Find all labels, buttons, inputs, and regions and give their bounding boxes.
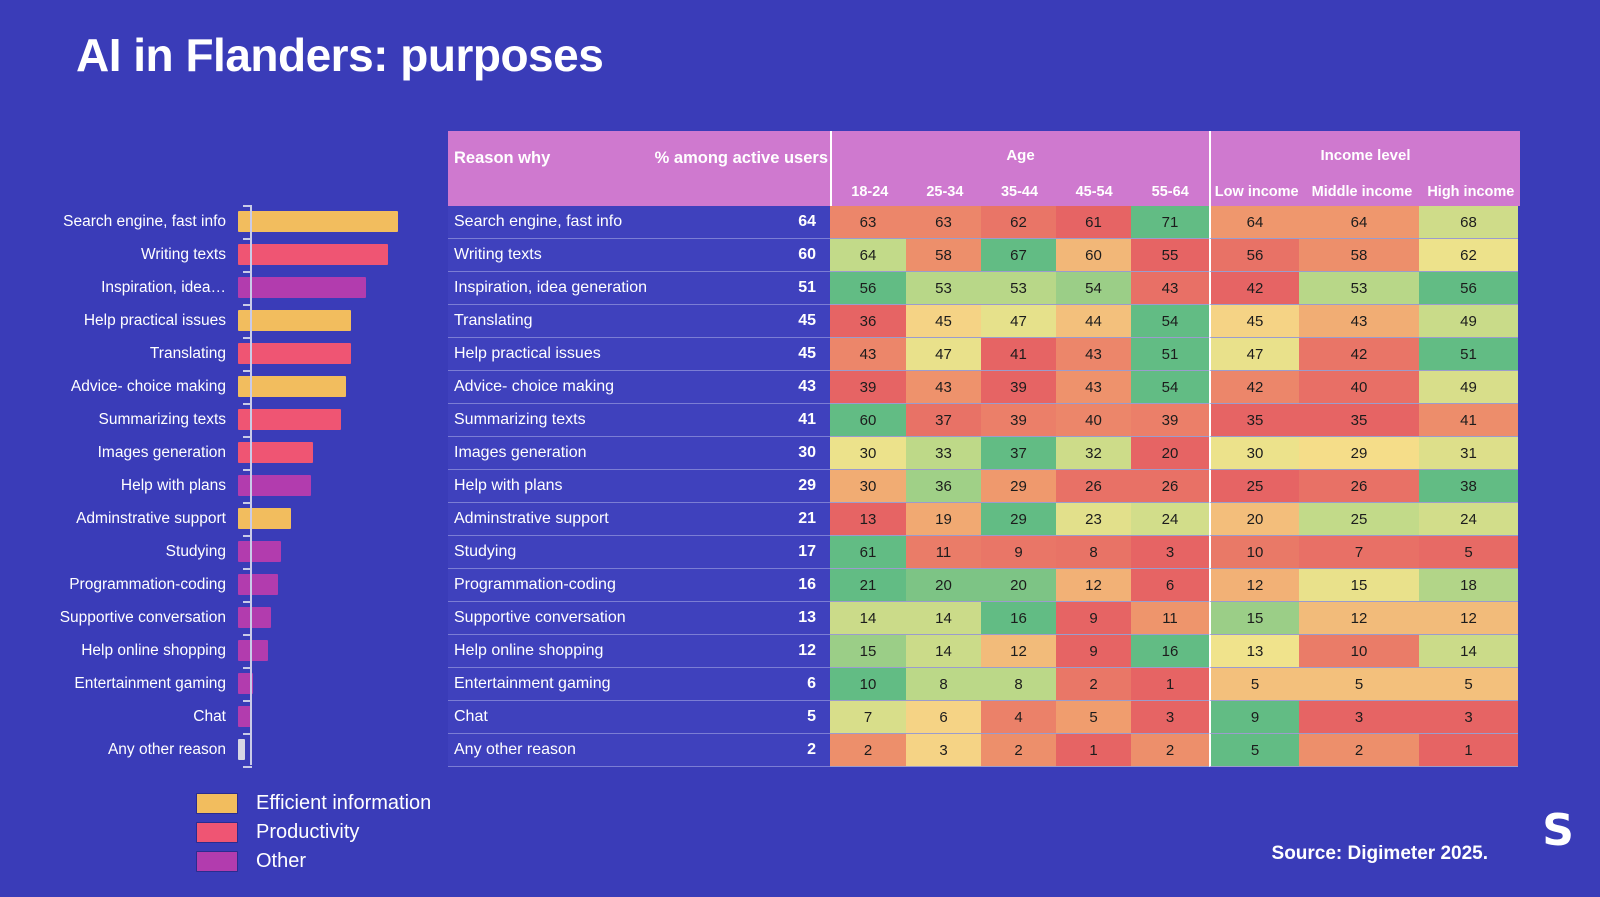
row-heatmap: 3036292626252638: [830, 470, 1518, 503]
row-reason-cell: Summarizing texts41: [448, 404, 830, 437]
heat-cell-age: 2: [1056, 668, 1131, 701]
heat-cell-age: 62: [981, 206, 1056, 239]
row-percent-value: 30: [798, 444, 816, 462]
heat-cell-age: 20: [906, 569, 981, 602]
axis-tick: [243, 667, 252, 669]
axis-tick: [243, 502, 252, 504]
bar-row: Adminstrative support: [0, 502, 430, 535]
bar: [238, 277, 366, 298]
row-percent-value: 5: [807, 708, 816, 726]
table-row: Writing texts606458676055565862: [448, 239, 1521, 272]
heat-cell-age: 20: [1131, 437, 1209, 470]
bar: [238, 508, 291, 529]
row-reason-label: Entertainment gaming: [448, 675, 611, 693]
bar-row: Images generation: [0, 436, 430, 469]
heat-cell-income: 12: [1209, 569, 1299, 602]
bar: [238, 343, 351, 364]
heat-cell-income: 51: [1419, 338, 1518, 371]
row-heatmap: 6363626171646468: [830, 206, 1518, 239]
heat-cell-income: 10: [1299, 635, 1419, 668]
legend-swatch: [196, 822, 238, 843]
bar-label: Any other reason: [0, 741, 238, 759]
header-group-title: Age: [832, 131, 1209, 161]
header-column-low-income: Low income: [1211, 184, 1302, 206]
bar: [238, 607, 271, 628]
row-reason-label: Help practical issues: [448, 345, 601, 363]
bar-track: [238, 304, 430, 337]
heat-cell-age: 9: [981, 536, 1056, 569]
bar-row: Help with plans: [0, 469, 430, 502]
heat-cell-age: 67: [981, 239, 1056, 272]
axis-tick: [243, 337, 252, 339]
header-pct-label: % among active users: [655, 149, 828, 168]
heat-cell-age: 11: [906, 536, 981, 569]
heat-cell-age: 8: [906, 668, 981, 701]
heat-cell-age: 63: [830, 206, 906, 239]
row-heatmap: 5653535443425356: [830, 272, 1518, 305]
bar-label: Chat: [0, 708, 238, 726]
table-row: Studying1761119831075: [448, 536, 1521, 569]
header-column-high-income: High income: [1422, 184, 1520, 206]
legend-label: Other: [256, 850, 306, 873]
bar: [238, 244, 388, 265]
heat-cell-income: 5: [1419, 536, 1518, 569]
heat-cell-age: 43: [1131, 272, 1209, 305]
heat-cell-age: 51: [1131, 338, 1209, 371]
bar-label: Help online shopping: [0, 642, 238, 660]
heat-cell-age: 16: [981, 602, 1056, 635]
brand-logo: S: [1542, 812, 1574, 850]
heat-cell-age: 30: [830, 470, 906, 503]
heat-cell-age: 15: [830, 635, 906, 668]
heat-cell-age: 12: [981, 635, 1056, 668]
header-group-income: Income levelLow incomeMiddle incomeHigh …: [1209, 131, 1520, 206]
table-row: Programmation-coding16212020126121518: [448, 569, 1521, 602]
heat-cell-income: 26: [1299, 470, 1419, 503]
heat-cell-income: 15: [1209, 602, 1299, 635]
bar-track: [238, 502, 430, 535]
row-reason-label: Inspiration, idea generation: [448, 279, 647, 297]
bar-row: Help practical issues: [0, 304, 430, 337]
heat-cell-age: 29: [981, 503, 1056, 536]
bar-row: Help online shopping: [0, 634, 430, 667]
row-heatmap: 151412916131014: [830, 635, 1518, 668]
heat-cell-income: 49: [1419, 305, 1518, 338]
heat-cell-income: 35: [1299, 404, 1419, 437]
bar: [238, 211, 398, 232]
heat-cell-income: 49: [1419, 371, 1518, 404]
heat-cell-age: 1: [1056, 734, 1131, 767]
heat-cell-income: 20: [1209, 503, 1299, 536]
axis-tick: [243, 634, 252, 636]
heat-cell-age: 47: [981, 305, 1056, 338]
row-reason-label: Translating: [448, 312, 533, 330]
bar: [238, 475, 311, 496]
heat-cell-income: 1: [1419, 734, 1518, 767]
heat-cell-age: 7: [830, 701, 906, 734]
heat-cell-age: 14: [906, 635, 981, 668]
heat-cell-income: 45: [1209, 305, 1299, 338]
heat-cell-age: 61: [830, 536, 906, 569]
row-reason-cell: Chat5: [448, 701, 830, 734]
heat-cell-income: 12: [1419, 602, 1518, 635]
row-percent-value: 6: [807, 675, 816, 693]
row-reason-cell: Help online shopping12: [448, 635, 830, 668]
heat-cell-age: 26: [1131, 470, 1209, 503]
axis-tick: [243, 238, 252, 240]
heat-cell-age: 53: [981, 272, 1056, 305]
bar-row: Translating: [0, 337, 430, 370]
heat-cell-age: 21: [830, 569, 906, 602]
axis-tick: [243, 766, 252, 768]
axis-tick: [243, 271, 252, 273]
legend-label: Efficient information: [256, 792, 431, 815]
row-reason-cell: Search engine, fast info64: [448, 206, 830, 239]
header-group-age: Age18-2425-3435-4445-5455-64: [830, 131, 1209, 206]
heat-cell-age: 29: [981, 470, 1056, 503]
heat-cell-income: 42: [1209, 371, 1299, 404]
header-column-middle-income: Middle income: [1302, 184, 1421, 206]
heat-cell-age: 16: [1131, 635, 1209, 668]
row-heatmap: 6458676055565862: [830, 239, 1518, 272]
heat-cell-age: 3: [906, 734, 981, 767]
axis-tick: [243, 601, 252, 603]
table-row: Advice- choice making433943394354424049: [448, 371, 1521, 404]
heat-cell-age: 2: [1131, 734, 1209, 767]
bar-track: [238, 634, 430, 667]
row-reason-cell: Any other reason2: [448, 734, 830, 767]
heat-cell-income: 31: [1419, 437, 1518, 470]
heat-cell-age: 9: [1056, 635, 1131, 668]
bar: [238, 409, 341, 430]
heat-cell-age: 39: [830, 371, 906, 404]
heat-cell-age: 19: [906, 503, 981, 536]
bar-track: [238, 436, 430, 469]
row-heatmap: 3645474454454349: [830, 305, 1518, 338]
row-reason-label: Help with plans: [448, 477, 563, 495]
heat-cell-age: 20: [981, 569, 1056, 602]
row-reason-cell: Translating45: [448, 305, 830, 338]
row-reason-cell: Supportive conversation13: [448, 602, 830, 635]
row-reason-cell: Help with plans29: [448, 470, 830, 503]
row-reason-label: Summarizing texts: [448, 411, 586, 429]
row-reason-label: Help online shopping: [448, 642, 603, 660]
bar: [238, 640, 268, 661]
axis-tick: [243, 568, 252, 570]
heat-cell-income: 64: [1299, 206, 1419, 239]
bar: [238, 541, 281, 562]
row-heatmap: 141416911151212: [830, 602, 1518, 635]
table-row: Any other reason223212521: [448, 734, 1521, 767]
header-reason-why: Reason why% among active users: [448, 131, 830, 206]
heat-cell-income: 3: [1299, 701, 1419, 734]
row-reason-label: Any other reason: [448, 741, 576, 759]
table-row: Help practical issues454347414351474251: [448, 338, 1521, 371]
heat-cell-age: 2: [981, 734, 1056, 767]
page-title: AI in Flanders: purposes: [76, 28, 603, 82]
heat-cell-age: 12: [1056, 569, 1131, 602]
table-row: Supportive conversation13141416911151212: [448, 602, 1521, 635]
heat-cell-income: 5: [1419, 668, 1518, 701]
heat-cell-age: 54: [1131, 305, 1209, 338]
heat-cell-age: 71: [1131, 206, 1209, 239]
table-row: Help online shopping12151412916131014: [448, 635, 1521, 668]
heat-cell-age: 63: [906, 206, 981, 239]
heat-cell-income: 35: [1209, 404, 1299, 437]
bar-label: Images generation: [0, 444, 238, 462]
axis-tick: [243, 535, 252, 537]
heat-cell-income: 13: [1209, 635, 1299, 668]
bar-label: Help practical issues: [0, 312, 238, 330]
row-reason-cell: Entertainment gaming6: [448, 668, 830, 701]
heat-cell-age: 60: [1056, 239, 1131, 272]
data-table: Reason why% among active usersAge18-2425…: [448, 131, 1521, 767]
row-heatmap: 108821555: [830, 668, 1518, 701]
table-header: Reason why% among active usersAge18-2425…: [448, 131, 1521, 206]
table-row: Entertainment gaming6108821555: [448, 668, 1521, 701]
axis-tick: [243, 205, 252, 207]
heat-cell-age: 39: [981, 371, 1056, 404]
heat-cell-income: 56: [1209, 239, 1299, 272]
heat-cell-age: 4: [981, 701, 1056, 734]
heat-cell-income: 42: [1299, 338, 1419, 371]
heat-cell-age: 58: [906, 239, 981, 272]
header-column-18-24: 18-24: [832, 184, 908, 206]
heat-cell-age: 24: [1131, 503, 1209, 536]
heat-cell-age: 37: [906, 404, 981, 437]
heat-cell-income: 38: [1419, 470, 1518, 503]
axis-tick: [243, 403, 252, 405]
heat-cell-age: 37: [981, 437, 1056, 470]
heat-cell-age: 30: [830, 437, 906, 470]
bar-chart: Search engine, fast infoWriting textsIns…: [0, 205, 430, 765]
heat-cell-age: 5: [1056, 701, 1131, 734]
row-percent-value: 43: [798, 378, 816, 396]
source-note: Source: Digimeter 2025.: [1272, 843, 1488, 865]
bar-row: Studying: [0, 535, 430, 568]
bar-row: Chat: [0, 700, 430, 733]
bar-track: [238, 601, 430, 634]
legend-swatch: [196, 793, 238, 814]
heat-cell-age: 53: [906, 272, 981, 305]
bar-row: Supportive conversation: [0, 601, 430, 634]
heat-cell-age: 6: [906, 701, 981, 734]
bar-track: [238, 337, 430, 370]
heat-cell-income: 3: [1419, 701, 1518, 734]
heat-cell-income: 64: [1209, 206, 1299, 239]
heat-cell-income: 18: [1419, 569, 1518, 602]
bar-track: [238, 568, 430, 601]
table-body: Search engine, fast info6463636261716464…: [448, 206, 1521, 767]
heat-cell-age: 47: [906, 338, 981, 371]
row-reason-label: Studying: [448, 543, 516, 561]
heat-cell-age: 1: [1131, 668, 1209, 701]
row-reason-cell: Studying17: [448, 536, 830, 569]
heat-cell-age: 9: [1056, 602, 1131, 635]
bar-label: Help with plans: [0, 477, 238, 495]
header-subcolumn-row: 18-2425-3435-4445-5455-64: [832, 161, 1209, 206]
legend-item: Other: [196, 847, 431, 876]
heat-cell-age: 56: [830, 272, 906, 305]
row-heatmap: 3943394354424049: [830, 371, 1518, 404]
heat-cell-income: 68: [1419, 206, 1518, 239]
heat-cell-age: 33: [906, 437, 981, 470]
bar-chart-axis: [250, 205, 252, 765]
bar-label: Supportive conversation: [0, 609, 238, 627]
row-reason-label: Advice- choice making: [448, 378, 614, 396]
heat-cell-age: 41: [981, 338, 1056, 371]
row-reason-cell: Advice- choice making43: [448, 371, 830, 404]
row-percent-value: 17: [798, 543, 816, 561]
heat-cell-income: 14: [1419, 635, 1518, 668]
bar-row: Entertainment gaming: [0, 667, 430, 700]
heat-cell-age: 43: [830, 338, 906, 371]
heat-cell-income: 41: [1419, 404, 1518, 437]
heat-cell-age: 43: [906, 371, 981, 404]
bar-track: [238, 733, 430, 766]
header-column-45-54: 45-54: [1057, 184, 1132, 206]
bar-track: [238, 667, 430, 700]
bar-row: Writing texts: [0, 238, 430, 271]
heat-cell-age: 64: [830, 239, 906, 272]
bar-label: Programmation-coding: [0, 576, 238, 594]
row-percent-value: 2: [807, 741, 816, 759]
bar: [238, 376, 346, 397]
row-percent-value: 29: [798, 477, 816, 495]
legend-item: Efficient information: [196, 789, 431, 818]
heat-cell-age: 11: [1131, 602, 1209, 635]
bar-row: Any other reason: [0, 733, 430, 766]
row-heatmap: 61119831075: [830, 536, 1518, 569]
header-reason-label: Reason why: [448, 149, 550, 168]
row-reason-label: Programmation-coding: [448, 576, 616, 594]
table-row: Translating453645474454454349: [448, 305, 1521, 338]
heat-cell-income: 10: [1209, 536, 1299, 569]
row-reason-cell: Writing texts60: [448, 239, 830, 272]
bar-row: Advice- choice making: [0, 370, 430, 403]
bar-label: Studying: [0, 543, 238, 561]
bar-track: [238, 205, 430, 238]
row-percent-value: 12: [798, 642, 816, 660]
heat-cell-income: 25: [1209, 470, 1299, 503]
legend-label: Productivity: [256, 821, 359, 844]
heat-cell-age: 3: [1131, 536, 1209, 569]
table-row: Summarizing texts416037394039353541: [448, 404, 1521, 437]
heat-cell-income: 40: [1299, 371, 1419, 404]
heat-cell-age: 13: [830, 503, 906, 536]
bar-label: Summarizing texts: [0, 411, 238, 429]
heat-cell-income: 12: [1299, 602, 1419, 635]
axis-tick: [243, 700, 252, 702]
heat-cell-age: 23: [1056, 503, 1131, 536]
heat-cell-income: 58: [1299, 239, 1419, 272]
heat-cell-income: 5: [1209, 734, 1299, 767]
heat-cell-age: 39: [981, 404, 1056, 437]
heat-cell-income: 47: [1209, 338, 1299, 371]
heat-cell-income: 62: [1419, 239, 1518, 272]
row-reason-cell: Programmation-coding16: [448, 569, 830, 602]
row-heatmap: 4347414351474251: [830, 338, 1518, 371]
heat-cell-age: 8: [1056, 536, 1131, 569]
heat-cell-income: 43: [1299, 305, 1419, 338]
heat-cell-income: 5: [1209, 668, 1299, 701]
row-percent-value: 64: [798, 213, 816, 231]
row-percent-value: 13: [798, 609, 816, 627]
axis-tick: [243, 469, 252, 471]
bar-label: Adminstrative support: [0, 510, 238, 528]
bar-track: [238, 238, 430, 271]
heat-cell-age: 40: [1056, 404, 1131, 437]
heat-cell-income: 9: [1209, 701, 1299, 734]
heat-cell-age: 32: [1056, 437, 1131, 470]
table-row: Images generation303033373220302931: [448, 437, 1521, 470]
legend-swatch: [196, 851, 238, 872]
bar-row: Summarizing texts: [0, 403, 430, 436]
bar-track: [238, 700, 430, 733]
heat-cell-age: 8: [981, 668, 1056, 701]
heat-cell-income: 30: [1209, 437, 1299, 470]
bar-track: [238, 370, 430, 403]
heat-cell-age: 3: [1131, 701, 1209, 734]
bar-label: Inspiration, idea…: [0, 279, 238, 297]
heat-cell-income: 15: [1299, 569, 1419, 602]
heat-cell-age: 39: [1131, 404, 1209, 437]
bar-track: [238, 403, 430, 436]
heat-cell-age: 36: [906, 470, 981, 503]
heat-cell-age: 36: [830, 305, 906, 338]
row-percent-value: 51: [798, 279, 816, 297]
table-row: Search engine, fast info6463636261716464…: [448, 206, 1521, 239]
row-heatmap: 6037394039353541: [830, 404, 1518, 437]
heat-cell-age: 14: [906, 602, 981, 635]
axis-tick: [243, 304, 252, 306]
heat-cell-income: 56: [1419, 272, 1518, 305]
bar-label: Writing texts: [0, 246, 238, 264]
heat-cell-income: 2: [1299, 734, 1419, 767]
row-percent-value: 45: [798, 312, 816, 330]
heat-cell-age: 43: [1056, 338, 1131, 371]
bar: [238, 574, 278, 595]
row-heatmap: 212020126121518: [830, 569, 1518, 602]
table-row: Inspiration, idea generation515653535443…: [448, 272, 1521, 305]
heat-cell-income: 42: [1209, 272, 1299, 305]
heat-cell-income: 25: [1299, 503, 1419, 536]
row-percent-value: 16: [798, 576, 816, 594]
heat-cell-age: 26: [1056, 470, 1131, 503]
axis-tick: [243, 733, 252, 735]
bar-label: Advice- choice making: [0, 378, 238, 396]
row-reason-cell: Adminstrative support21: [448, 503, 830, 536]
row-reason-label: Images generation: [448, 444, 587, 462]
row-reason-label: Search engine, fast info: [448, 213, 622, 231]
heat-cell-income: 24: [1419, 503, 1518, 536]
heat-cell-age: 55: [1131, 239, 1209, 272]
row-reason-label: Adminstrative support: [448, 510, 609, 528]
row-reason-label: Writing texts: [448, 246, 542, 264]
heat-cell-age: 44: [1056, 305, 1131, 338]
bar: [238, 310, 351, 331]
bar-track: [238, 469, 430, 502]
bar-row: Programmation-coding: [0, 568, 430, 601]
bar: [238, 706, 251, 727]
heat-cell-income: 7: [1299, 536, 1419, 569]
table-row: Help with plans293036292626252638: [448, 470, 1521, 503]
table-row: Chat576453933: [448, 701, 1521, 734]
bar-row: Search engine, fast info: [0, 205, 430, 238]
row-heatmap: 3033373220302931: [830, 437, 1518, 470]
header-column-55-64: 55-64: [1131, 184, 1209, 206]
heat-cell-income: 5: [1299, 668, 1419, 701]
